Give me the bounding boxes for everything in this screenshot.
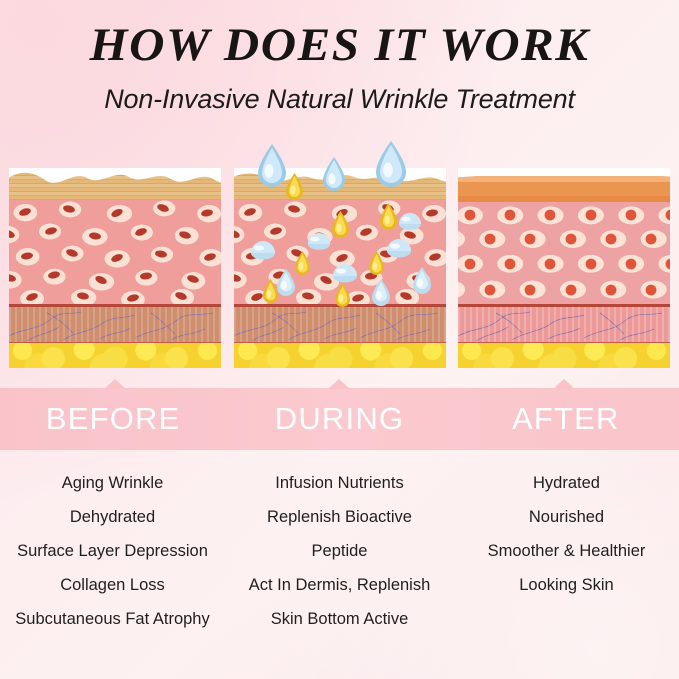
- water-droplet-icon: [412, 266, 432, 294]
- stage-label-row: BEFORE DURING AFTER: [0, 388, 679, 450]
- nutrient-droplet-icon: [379, 202, 398, 231]
- nutrient-droplet-icon: [331, 210, 350, 239]
- fat-layer-after: [458, 343, 670, 368]
- water-droplet-icon: [307, 232, 331, 250]
- diagram-panel-before: [9, 168, 221, 368]
- detail-line: Replenish Bioactive: [227, 500, 452, 534]
- falling-water-droplet-icon: [375, 140, 407, 187]
- detail-line: Dehydrated: [0, 500, 225, 534]
- stage-label-during: DURING: [226, 401, 452, 437]
- fat-layer-before: [9, 343, 221, 368]
- detail-line: Aging Wrinkle: [0, 466, 225, 500]
- dermis-layer-before: [9, 200, 221, 305]
- hypodermis-layer-during: [234, 307, 446, 343]
- water-droplet-icon: [276, 268, 296, 296]
- detail-line: Nourished: [454, 500, 679, 534]
- falling-water-droplet-icon: [257, 143, 287, 187]
- stage-details-before: Aging Wrinkle Dehydrated Surface Layer D…: [0, 466, 227, 646]
- falling-nutrient-droplet-icon: [285, 172, 304, 201]
- stage-details-during: Infusion Nutrients Replenish Bioactive P…: [227, 466, 452, 646]
- detail-line: Act In Dermis, Replenish: [227, 568, 452, 602]
- hypodermis-layer-before: [9, 307, 221, 343]
- water-droplet-icon: [398, 212, 422, 230]
- page-subtitle: Non-Invasive Natural Wrinkle Treatment: [0, 72, 679, 115]
- detail-line: Infusion Nutrients: [227, 466, 452, 500]
- diagram-panel-row: [0, 168, 679, 373]
- water-droplet-icon: [371, 278, 391, 306]
- stage-detail-columns: Aging Wrinkle Dehydrated Surface Layer D…: [0, 466, 679, 646]
- stage-label-before: BEFORE: [0, 401, 226, 437]
- water-droplet-icon: [386, 238, 412, 258]
- stage-label-after: AFTER: [453, 401, 679, 437]
- detail-line: Smoother & Healthier: [454, 534, 679, 568]
- skin-cross-section-before: [9, 168, 221, 368]
- diagram-panel-during: [234, 168, 446, 368]
- dermis-layer-after: [458, 202, 670, 305]
- nutrient-droplet-icon: [368, 250, 385, 276]
- nutrient-droplet-icon: [334, 282, 351, 308]
- skin-cross-section-after: [458, 168, 670, 368]
- detail-line: Collagen Loss: [0, 568, 225, 602]
- stage-details-after: Hydrated Nourished Smoother & Healthier …: [452, 466, 679, 646]
- skin-cross-section-during: [234, 168, 446, 368]
- hypodermis-layer-after: [458, 307, 670, 343]
- detail-line: Hydrated: [454, 466, 679, 500]
- falling-water-droplet-icon: [322, 156, 346, 192]
- skin-surface-wave-after: [458, 168, 670, 184]
- detail-line: Surface Layer Depression: [0, 534, 225, 568]
- dermis-nuclei-after: [458, 202, 670, 305]
- page-title: HOW DOES IT WORK: [0, 0, 679, 72]
- detail-line: Peptide: [227, 534, 452, 568]
- fat-layer-during: [234, 343, 446, 368]
- dermis-nuclei-before: [9, 200, 221, 305]
- poster-root: HOW DOES IT WORK Non-Invasive Natural Wr…: [0, 0, 679, 679]
- detail-line: Subcutaneous Fat Atrophy: [0, 602, 225, 636]
- skin-surface-wave-before: [9, 168, 221, 186]
- detail-line: Skin Bottom Active: [227, 602, 452, 636]
- nutrient-droplet-icon: [294, 250, 311, 276]
- water-droplet-icon: [332, 263, 358, 283]
- water-droplet-icon: [250, 240, 276, 260]
- detail-line: Looking Skin: [454, 568, 679, 602]
- diagram-panel-after: [458, 168, 670, 368]
- header: HOW DOES IT WORK Non-Invasive Natural Wr…: [0, 0, 679, 115]
- nutrient-droplet-icon: [262, 278, 279, 304]
